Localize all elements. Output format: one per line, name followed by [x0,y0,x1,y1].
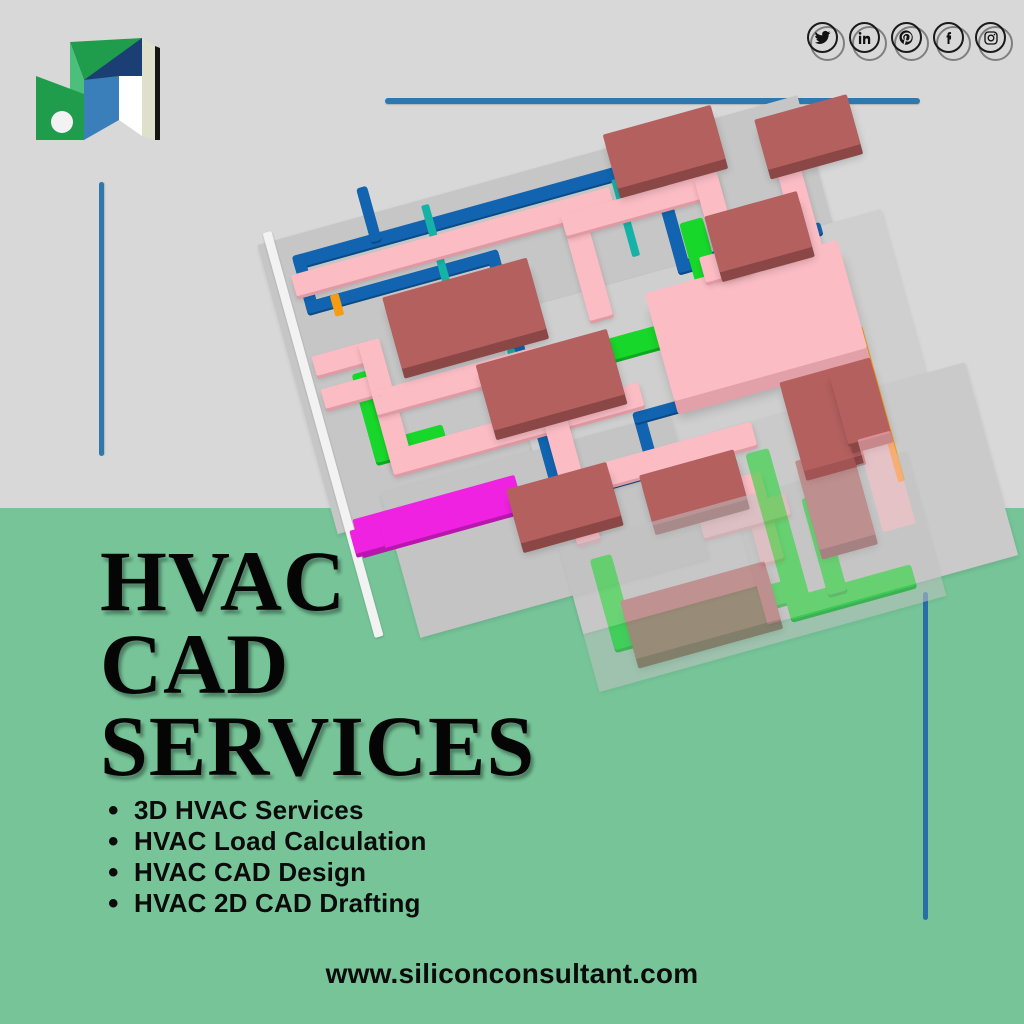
services-list: 3D HVAC Services HVAC Load Calculation H… [100,795,427,919]
divider-vertical-right [923,592,928,920]
facebook-icon[interactable] [933,22,964,53]
pinterest-icon[interactable] [891,22,922,53]
headline-line-3: SERVICES [100,705,535,788]
list-item: HVAC Load Calculation [100,826,427,857]
headline-line-1: HVAC [100,540,535,623]
list-item: HVAC 2D CAD Drafting [100,888,427,919]
instagram-icon[interactable] [975,22,1006,53]
page-title: HVAC CAD SERVICES [100,540,535,788]
headline-line-2: CAD [100,623,535,706]
social-links [807,22,1006,53]
divider-vertical-left [99,182,104,456]
list-item: 3D HVAC Services [100,795,427,826]
company-logo[interactable] [24,36,164,144]
website-url[interactable]: www.siliconconsultant.com [0,958,1024,990]
twitter-icon[interactable] [807,22,838,53]
poster-canvas: HVAC CAD SERVICES 3D HVAC Services HVAC … [0,0,1024,1024]
list-item: HVAC CAD Design [100,857,427,888]
